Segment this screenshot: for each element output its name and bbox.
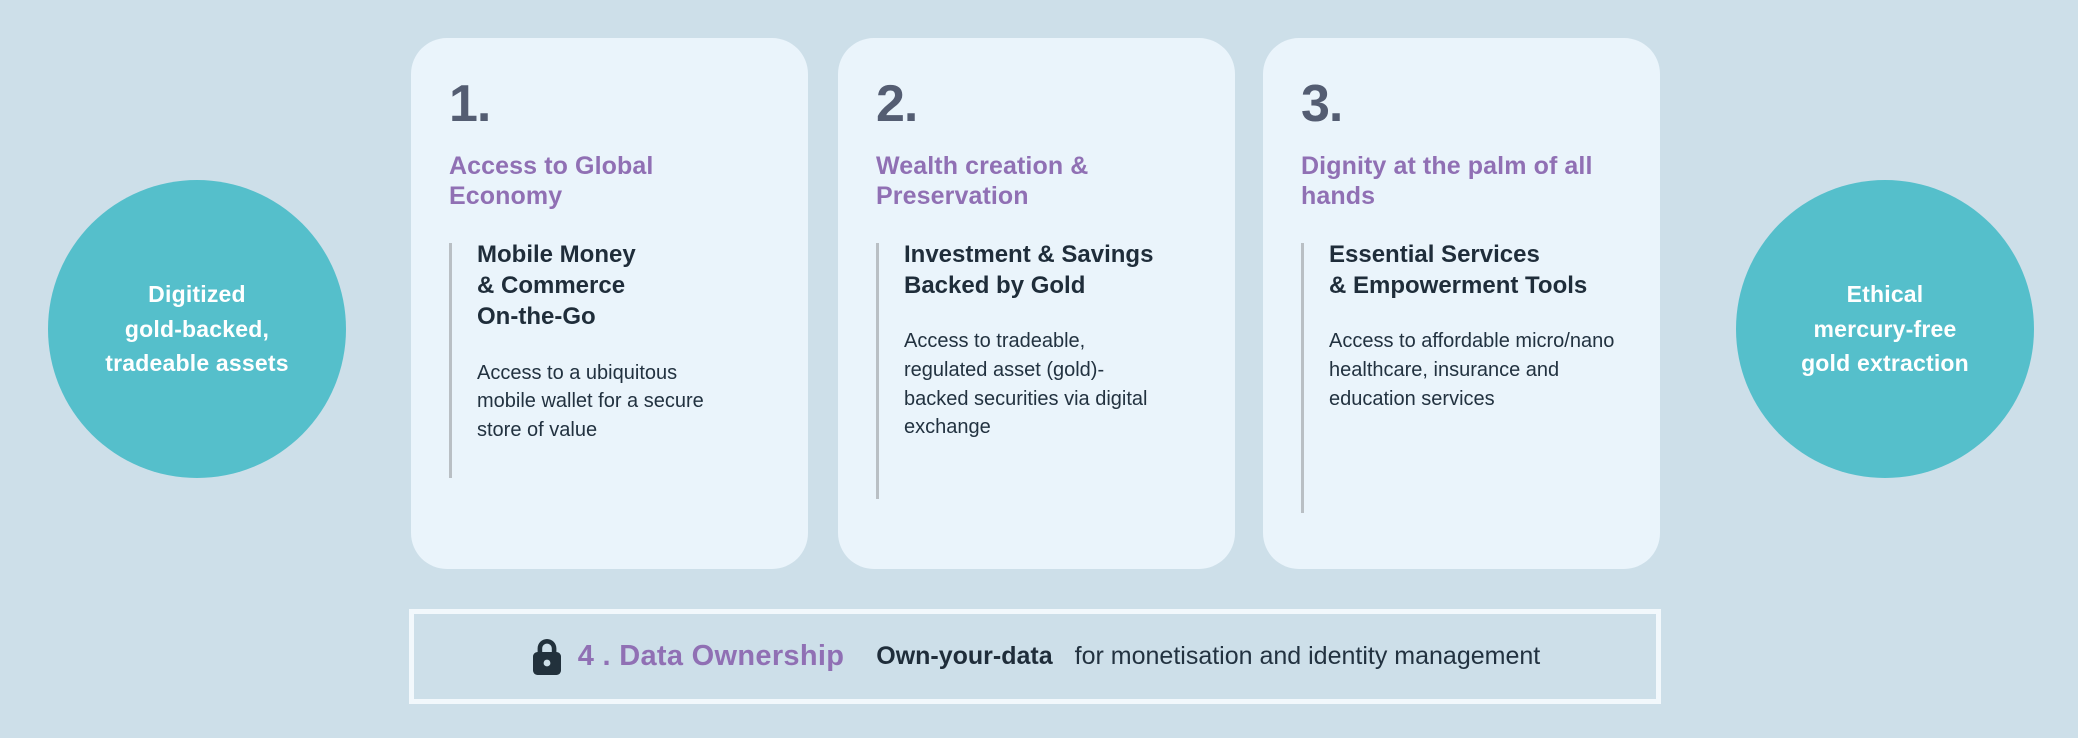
banner-content: 4 . Data Ownership Own-your-data for mon…: [530, 638, 1540, 676]
card-1-body: Mobile Money & Commerce On-the-Go Access…: [449, 239, 770, 444]
ethical-extraction-circle: Ethical mercury-free gold extraction: [1736, 180, 2034, 478]
card-2-subtitle: Investment & Savings Backed by Gold: [904, 239, 1197, 301]
pillar-card-1[interactable]: 1. Access to Global Economy Mobile Money…: [411, 38, 808, 569]
card-3-description: Access to affordable micro/nano healthca…: [1329, 327, 1622, 413]
vertical-rule-icon: [449, 243, 452, 478]
card-2-description: Access to tradeable, regulated asset (go…: [904, 327, 1197, 441]
digitized-gold-backed-circle: Digitized gold-backed, tradeable assets: [48, 180, 346, 478]
card-2-heading: Wealth creation & Preservation: [876, 152, 1197, 211]
card-1-description: Access to a ubiquitous mobile wallet for…: [477, 359, 770, 445]
card-3-body: Essential Services & Empowerment Tools A…: [1301, 239, 1622, 413]
banner-rest-text: for monetisation and identity management: [1075, 642, 1541, 671]
card-2-number: 2.: [876, 78, 1197, 130]
infographic-canvas: Digitized gold-backed, tradeable assets …: [0, 0, 2078, 738]
banner-number-label: 4 . Data Ownership: [578, 640, 844, 673]
card-3-number: 3.: [1301, 78, 1622, 130]
card-3-subtitle: Essential Services & Empowerment Tools: [1329, 239, 1622, 301]
card-1-heading: Access to Global Economy: [449, 152, 770, 211]
circle-left-label: Digitized gold-backed, tradeable assets: [105, 277, 288, 381]
card-2-body: Investment & Savings Backed by Gold Acce…: [876, 239, 1197, 442]
data-ownership-banner[interactable]: 4 . Data Ownership Own-your-data for mon…: [409, 609, 1661, 704]
vertical-rule-icon: [1301, 243, 1304, 513]
card-1-number: 1.: [449, 78, 770, 130]
vertical-rule-icon: [876, 243, 879, 499]
card-3-heading: Dignity at the palm of all hands: [1301, 152, 1622, 211]
lock-icon: [530, 638, 564, 676]
card-1-subtitle: Mobile Money & Commerce On-the-Go: [477, 239, 770, 333]
circle-right-label: Ethical mercury-free gold extraction: [1801, 277, 1969, 381]
pillar-card-2[interactable]: 2. Wealth creation & Preservation Invest…: [838, 38, 1235, 569]
pillar-card-3[interactable]: 3. Dignity at the palm of all hands Esse…: [1263, 38, 1660, 569]
banner-strong-text: Own-your-data: [876, 642, 1052, 671]
